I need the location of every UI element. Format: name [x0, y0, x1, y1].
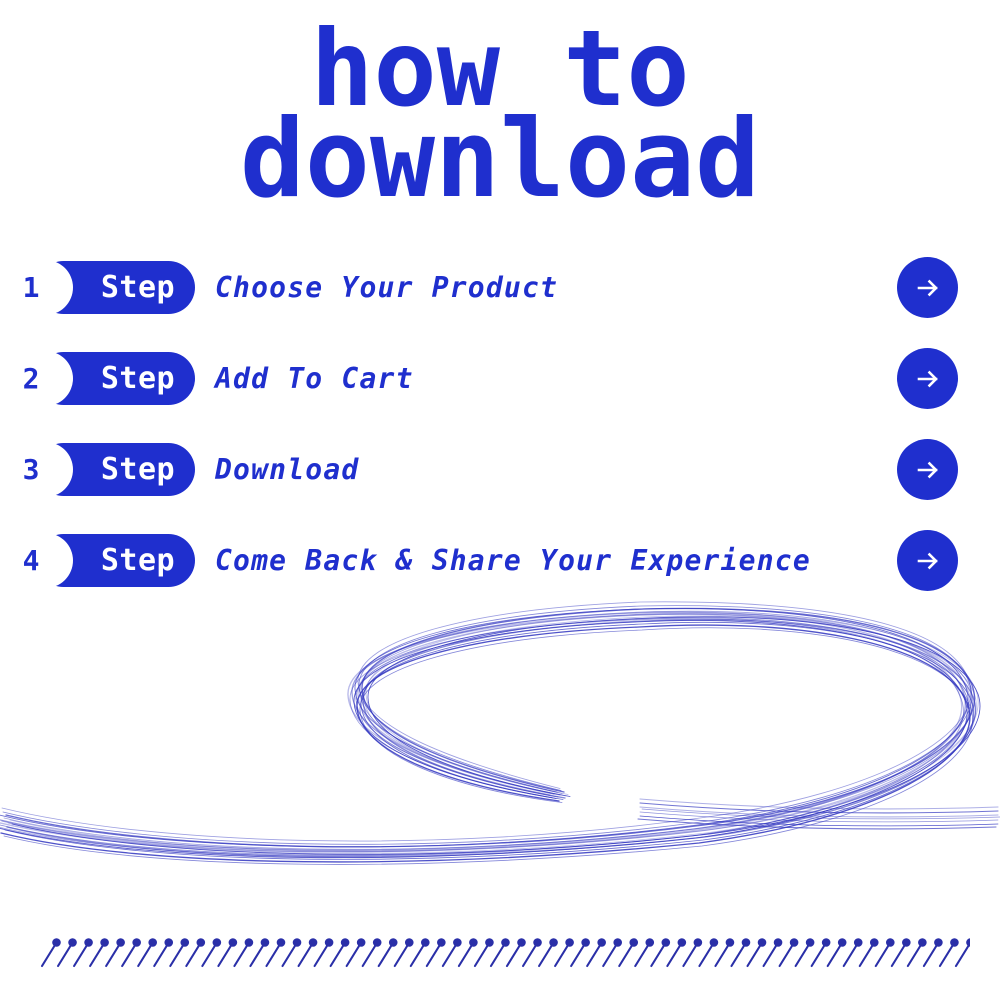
- step-number: 3: [6, 443, 56, 496]
- arrow-right-icon: [913, 455, 943, 485]
- step-label: Add To Cart: [215, 352, 414, 405]
- step-number: 4: [6, 534, 56, 587]
- step-label: Download: [215, 443, 359, 496]
- step-badge: 2 Step: [37, 352, 195, 405]
- step-badge: 3 Step: [37, 443, 195, 496]
- step-badge: 4 Step: [37, 534, 195, 587]
- poster-canvas: how to download 1 Step Choose Your Produ…: [0, 0, 1000, 1000]
- step-row[interactable]: 3 Step Download: [0, 430, 1000, 521]
- step-word: Step: [81, 443, 195, 496]
- arrow-right-icon: [913, 546, 943, 576]
- step-badge: 1 Step: [37, 261, 195, 314]
- step-number: 2: [6, 352, 56, 405]
- step-label: Choose Your Product: [215, 261, 558, 314]
- step-row[interactable]: 1 Step Choose Your Product: [0, 248, 1000, 339]
- step-word: Step: [81, 352, 195, 405]
- step-label: Come Back & Share Your Experience: [215, 534, 811, 587]
- arrow-right-icon: [913, 364, 943, 394]
- arrow-right-icon: [913, 273, 943, 303]
- diagonal-pin-pattern: [40, 936, 970, 968]
- title-line-2: download: [0, 111, 1000, 208]
- hand-drawn-loop-swoosh: [0, 595, 1000, 895]
- steps-list: 1 Step Choose Your Product 2 Step Add To…: [0, 248, 1000, 612]
- step-number: 1: [6, 261, 56, 314]
- step-word: Step: [81, 261, 195, 314]
- step-arrow-button[interactable]: [897, 439, 958, 500]
- step-arrow-button[interactable]: [897, 530, 958, 591]
- step-word: Step: [81, 534, 195, 587]
- step-arrow-button[interactable]: [897, 348, 958, 409]
- step-arrow-button[interactable]: [897, 257, 958, 318]
- page-title: how to download: [0, 22, 1000, 208]
- step-row[interactable]: 4 Step Come Back & Share Your Experience: [0, 521, 1000, 612]
- step-row[interactable]: 2 Step Add To Cart: [0, 339, 1000, 430]
